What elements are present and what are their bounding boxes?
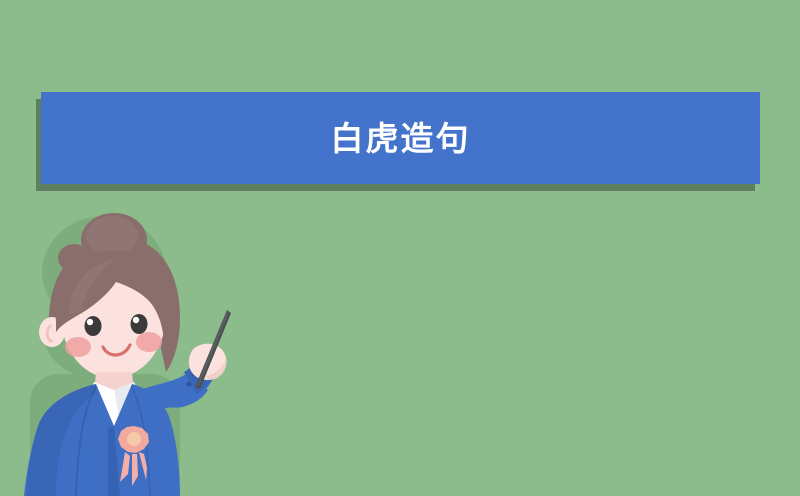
title-banner: 白虎造句 <box>41 92 760 184</box>
teacher-illustration <box>8 214 258 496</box>
page-root: 白虎造句 <box>0 0 800 496</box>
cuff-button-3 <box>186 381 191 386</box>
rosette-center <box>127 432 141 446</box>
page-title: 白虎造句 <box>331 122 471 155</box>
eye-left <box>85 316 102 336</box>
blush-right <box>136 332 162 352</box>
eye-left-highlight <box>87 319 93 325</box>
teacher-illustration-svg <box>8 214 258 496</box>
hair-bun-highlight <box>86 216 138 256</box>
blush-left <box>65 337 91 357</box>
eye-right <box>131 314 148 334</box>
eye-right-highlight <box>133 317 139 323</box>
